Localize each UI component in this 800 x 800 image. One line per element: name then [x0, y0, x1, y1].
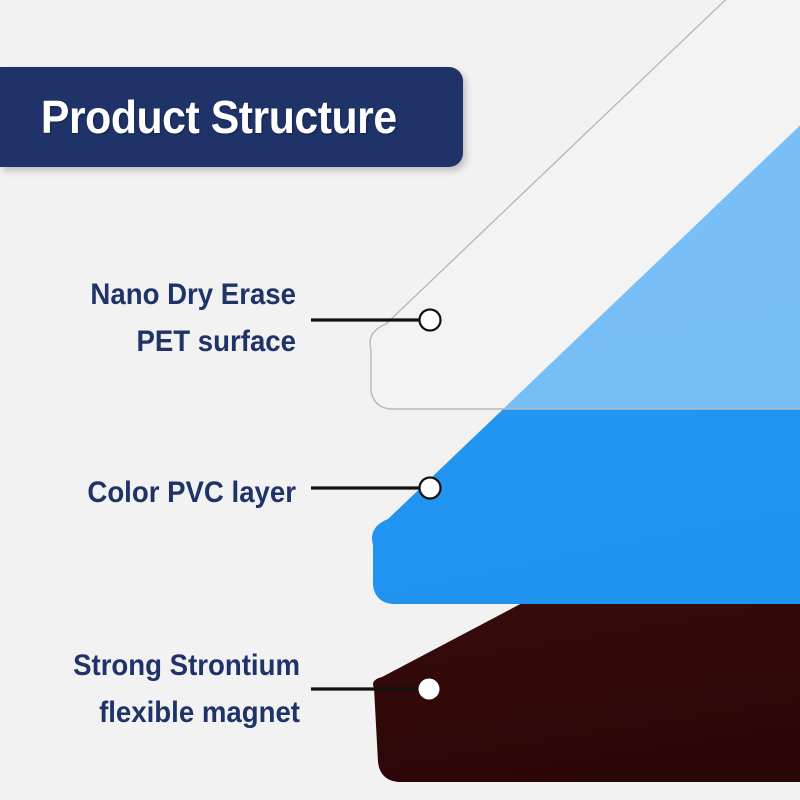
product-structure-diagram: Product Structure Nano Dry Erase PET sur… [0, 0, 800, 800]
page-title-banner: Product Structure [0, 67, 463, 167]
callout-marker-magnet[interactable] [419, 679, 440, 700]
callout-label-pet-line2: PET surface [24, 319, 296, 366]
pet-layer-shape [370, 0, 800, 409]
callout-label-magnet-line2: flexible magnet [24, 690, 300, 737]
callout-marker-pet[interactable] [420, 310, 441, 331]
callout-label-pvc-line1: Color PVC layer [24, 470, 296, 517]
callout-marker-pvc[interactable] [420, 478, 441, 499]
page-title: Product Structure [0, 90, 397, 144]
callout-label-magnet-line1: Strong Strontium [24, 643, 300, 690]
callout-label-magnet: Strong Strontium flexible magnet [24, 643, 300, 736]
callout-label-pet-line1: Nano Dry Erase [24, 272, 296, 319]
callout-label-pet: Nano Dry Erase PET surface [24, 272, 296, 365]
callout-label-pvc: Color PVC layer [24, 470, 296, 517]
